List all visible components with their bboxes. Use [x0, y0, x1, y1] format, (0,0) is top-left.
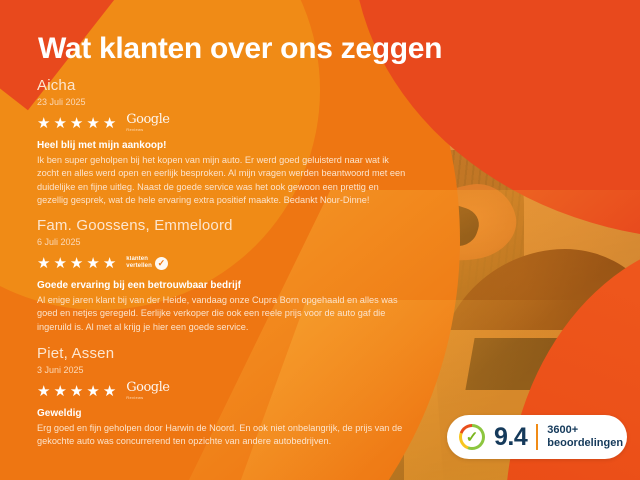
review-date: 6 Juli 2025: [37, 236, 409, 249]
check-glyph: ✓: [158, 259, 166, 268]
google-wordmark: Google: [126, 381, 169, 394]
star-icon: ★: [103, 384, 116, 399]
kiyoh-check-glyph: ✓: [466, 430, 479, 445]
review-meta: ★ ★ ★ ★ ★ klanten vertellen ✓: [37, 253, 409, 273]
klantenvertellen-line1: klanten: [126, 256, 152, 263]
star-icon: ★: [70, 256, 83, 271]
star-rating: ★ ★ ★ ★ ★: [37, 256, 116, 271]
kiyoh-inner: ✓: [462, 427, 482, 447]
review-card: Piet, Assen 3 Juni 2025 ★ ★ ★ ★ ★ Google…: [37, 344, 409, 449]
review-date: 23 Juli 2025: [37, 96, 409, 109]
google-reviews-logo: Google Reviews: [126, 381, 169, 401]
star-icon: ★: [53, 384, 66, 399]
rating-count: 3600+: [547, 424, 623, 437]
star-icon: ★: [70, 116, 83, 131]
review-body: Al enige jaren klant bij van der Heide, …: [37, 294, 409, 334]
star-icon: ★: [103, 256, 116, 271]
review-body: Ik ben super geholpen bij het kopen van …: [37, 154, 409, 208]
star-rating: ★ ★ ★ ★ ★: [37, 116, 116, 131]
google-reviews-logo: Google Reviews: [126, 113, 169, 133]
review-title: Heel blij met mijn aankoop!: [37, 139, 409, 153]
kiyoh-check-icon: ✓: [459, 424, 485, 450]
star-icon: ★: [86, 116, 99, 131]
check-circle-icon: ✓: [155, 257, 168, 270]
star-icon: ★: [37, 256, 50, 271]
google-reviews-sublabel: Reviews: [126, 395, 143, 401]
review-meta: ★ ★ ★ ★ ★ Google Reviews: [37, 381, 409, 401]
google-reviews-sublabel: Reviews: [126, 127, 143, 133]
content-layer: Wat klanten over ons zeggen Aicha 23 Jul…: [0, 0, 640, 480]
review-body: Erg goed en fijn geholpen door Harwin de…: [37, 422, 409, 449]
star-icon: ★: [103, 116, 116, 131]
reviewer-name: Piet, Assen: [37, 344, 409, 363]
review-meta: ★ ★ ★ ★ ★ Google Reviews: [37, 113, 409, 133]
star-icon: ★: [86, 256, 99, 271]
reviewer-name: Fam. Goossens, Emmeloord: [37, 216, 409, 235]
star-icon: ★: [37, 384, 50, 399]
klantenvertellen-logo: klanten vertellen ✓: [126, 256, 168, 270]
reviewer-name: Aicha: [37, 76, 409, 95]
rating-text-group: 3600+ beoordelingen: [547, 424, 623, 450]
rating-divider: [536, 424, 538, 450]
star-icon: ★: [53, 256, 66, 271]
star-rating: ★ ★ ★ ★ ★: [37, 384, 116, 399]
google-wordmark: Google: [126, 113, 169, 126]
review-title: Goede ervaring bij een betrouwbaar bedri…: [37, 279, 409, 293]
review-title: Geweldig: [37, 407, 409, 421]
review-card: Aicha 23 Juli 2025 ★ ★ ★ ★ ★ Google Revi…: [37, 76, 409, 208]
rating-score: 9.4: [494, 425, 527, 450]
star-icon: ★: [53, 116, 66, 131]
page-title: Wat klanten over ons zeggen: [38, 32, 442, 66]
star-icon: ★: [37, 116, 50, 131]
star-icon: ★: [70, 384, 83, 399]
overall-rating-badge[interactable]: ✓ 9.4 3600+ beoordelingen: [447, 415, 627, 459]
klantenvertellen-line2: vertellen: [126, 263, 152, 270]
review-date: 3 Juni 2025: [37, 364, 409, 377]
star-icon: ★: [86, 384, 99, 399]
rating-label: beoordelingen: [547, 437, 623, 450]
review-card: Fam. Goossens, Emmeloord 6 Juli 2025 ★ ★…: [37, 216, 409, 334]
